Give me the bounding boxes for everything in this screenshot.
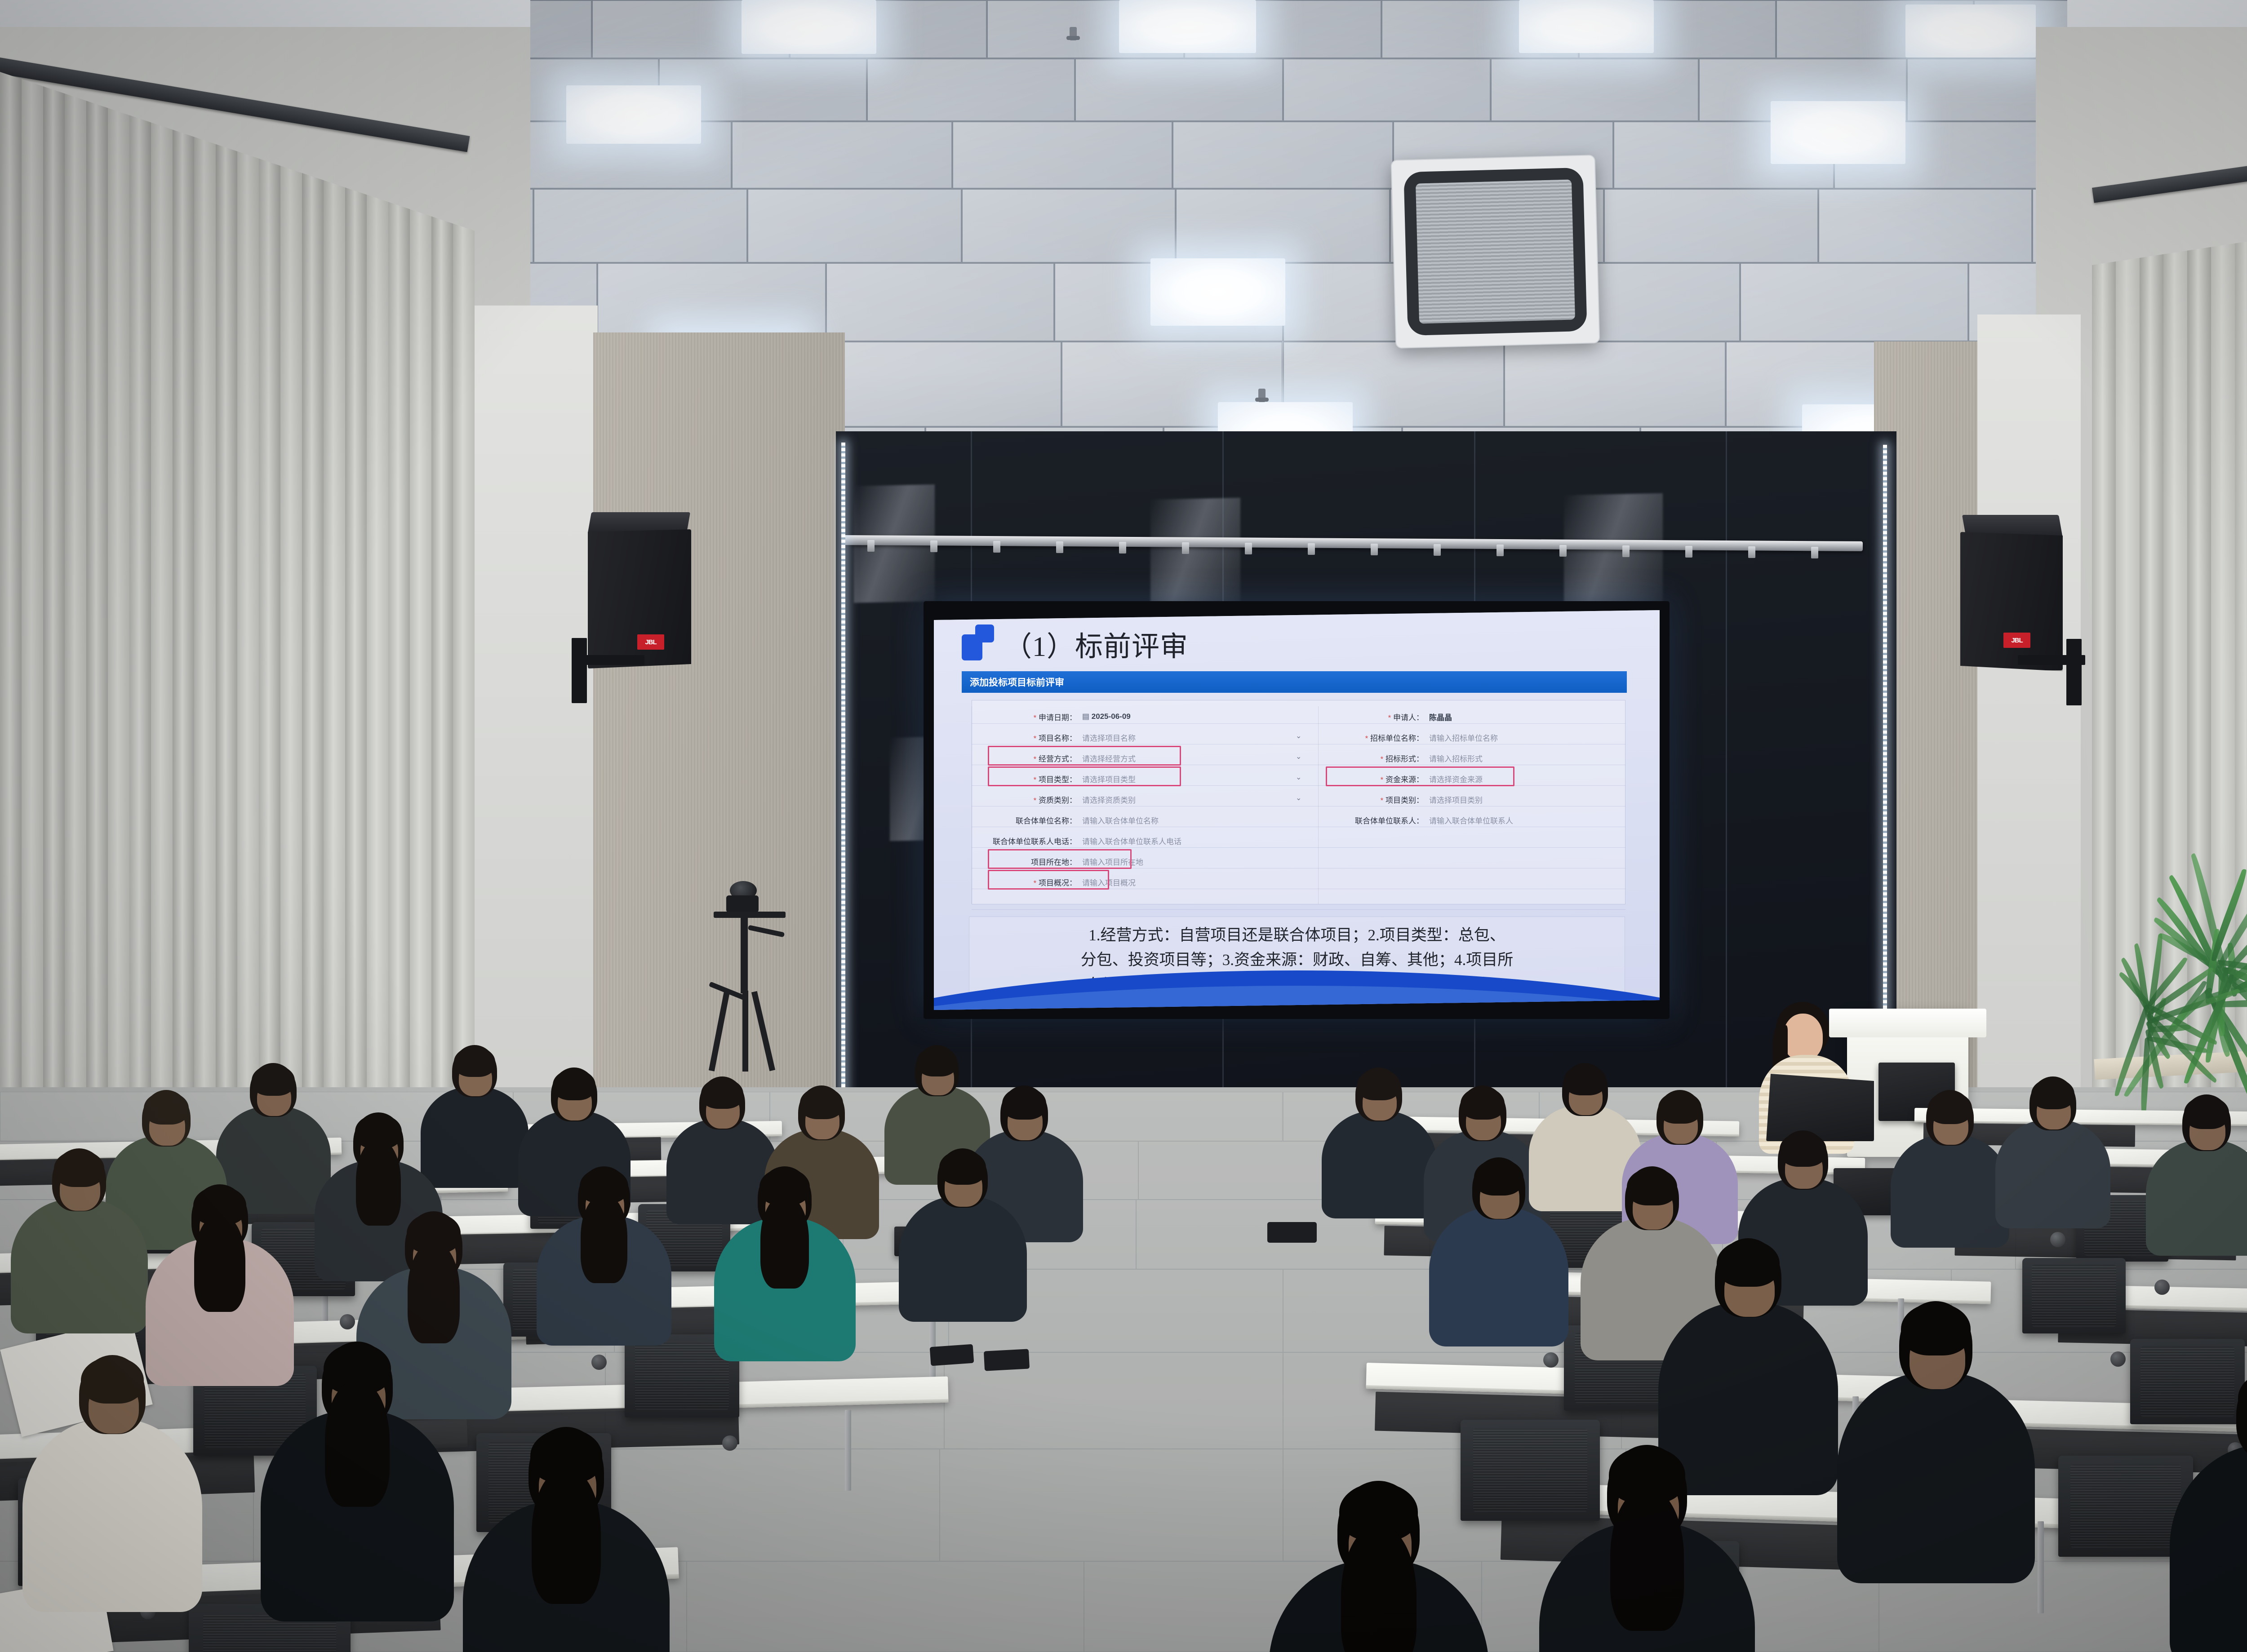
attendee-torso: [1995, 1120, 2110, 1228]
wall-speaker-right: JBL: [1950, 512, 2085, 705]
curtain-fold: [129, 67, 151, 1177]
curtain-fold: [259, 67, 280, 1177]
attendee-torso: [22, 1419, 202, 1612]
ceiling-tile: [747, 189, 961, 263]
track-clip: [1308, 543, 1315, 555]
attendee: [1339, 1483, 1559, 1652]
form-field-label: * 招标单位名称：: [934, 732, 1424, 743]
attendee-hair-top: [701, 1078, 743, 1109]
ceiling-tile: [1491, 58, 1699, 121]
curtain-fold: [216, 67, 237, 1177]
form-field-label-text: 招标形式：: [1386, 755, 1424, 763]
curtain-fold: [22, 67, 43, 1177]
form-row: * 项目类别：请选择项目类别: [934, 789, 1626, 810]
form-grid-line: [972, 909, 1625, 910]
curtain-fold: [151, 67, 173, 1177]
floor-tile: [940, 1449, 1283, 1561]
attendee-hair-top: [454, 1047, 495, 1077]
highlight-box: [988, 746, 1181, 766]
jbl-logo-badge: JBL: [2003, 633, 2030, 648]
attendee-long-hair: [1341, 1525, 1417, 1652]
ceiling-tile: [597, 263, 826, 341]
curtain-fold: [453, 67, 475, 1177]
ceiling-tile: [962, 189, 1176, 263]
ceiling-ac-cassette: [1391, 155, 1600, 349]
ceiling-tile: [840, 341, 1061, 427]
form-header-bar: 添加投标项目标前评审: [962, 671, 1627, 693]
attendee-hair-top: [144, 1092, 189, 1125]
ceiling-light-panel: [1905, 4, 2036, 58]
ceiling-light-panel: [1150, 258, 1285, 326]
attendee-long-hair: [581, 1194, 627, 1283]
attendee-long-hair: [532, 1468, 601, 1604]
smartphone: [1267, 1222, 1317, 1243]
curtain-fold: [43, 67, 65, 1177]
ceiling-tile: [867, 58, 1075, 121]
projection-screen: （1）标前评审 添加投标项目标前评审 * 申请日期：▤ 2025-06-09* …: [934, 610, 1660, 1010]
attendee-long-hair: [325, 1380, 390, 1507]
ceiling-light-panel: [1519, 0, 1654, 53]
form-row: 联合体单位联系人：请输入联合体单位联系人: [934, 810, 1626, 830]
highlight-box: [988, 766, 1181, 786]
attendee-long-hair: [760, 1195, 809, 1289]
smartphone: [984, 1349, 1030, 1371]
curtain-fold: [86, 67, 108, 1177]
track-clip: [930, 540, 937, 552]
track-clip: [993, 541, 1000, 553]
jbl-logo-badge: JBL: [637, 634, 664, 650]
attendee: [2031, 1078, 2146, 1237]
attendee: [759, 1168, 901, 1372]
ceiling-tile: [1176, 189, 1390, 263]
led-strip-right: [1883, 445, 1887, 1105]
slide-footer-wave: [934, 943, 1660, 1010]
attendee-hair-top: [1658, 1092, 1701, 1124]
led-strip-left: [841, 443, 845, 1107]
attendee-long-hair: [1610, 1488, 1683, 1631]
form-row: * 申请人：陈晶晶: [934, 706, 1626, 727]
ceiling-tile: [1172, 121, 1393, 189]
highlight-box: [988, 870, 1109, 890]
meeting-room-photo: JBL JBL （1）标前评审 添加投标项目标前评审 * 申请: [0, 0, 2247, 1652]
ceiling-tile: [732, 121, 952, 189]
attendee-hair-top: [1780, 1132, 1826, 1167]
attendee-long-hair: [356, 1139, 401, 1226]
smartphone: [930, 1344, 974, 1366]
chair-mesh-back: [2140, 1346, 2234, 1417]
required-asterisk: *: [1365, 734, 1370, 743]
ceiling-tile: [1283, 58, 1491, 121]
attendee: [530, 1429, 737, 1652]
curtain-fold: [65, 67, 86, 1177]
attendee-hair-top: [1357, 1069, 1400, 1100]
attendee-hair-top: [939, 1150, 986, 1185]
ceiling-tile: [1740, 263, 1969, 341]
form-field-label: * 项目类别：: [934, 794, 1424, 805]
attendee-torso: [1322, 1111, 1436, 1218]
form-field-value[interactable]: 陈晶晶: [1429, 711, 1452, 722]
form-field-label-text: 招标单位名称：: [1370, 734, 1424, 743]
attendee-hair-top: [1928, 1092, 1972, 1124]
attendee-hair-top: [1564, 1065, 1606, 1095]
camera-body: [726, 895, 759, 912]
form-field-value[interactable]: 请选择项目类别: [1429, 794, 1483, 805]
sprinkler-head: [1070, 27, 1077, 40]
chair-caster: [2154, 1280, 2170, 1295]
chair-caster: [340, 1314, 355, 1329]
desk-leg: [845, 1410, 851, 1491]
sprinkler-head: [1258, 389, 1266, 402]
curtain-fold: [0, 67, 22, 1177]
curtain-fold: [280, 67, 302, 1177]
curtain-fold: [173, 67, 194, 1177]
track-clip: [1685, 546, 1692, 558]
form-field-label-text: 联合体单位联系人电话：: [993, 837, 1077, 846]
curtain-fold: [302, 67, 324, 1177]
presenter-laptop: [1766, 1074, 1874, 1141]
form-field-label-text: 申请人：: [1393, 713, 1424, 722]
curtain-fold: [410, 67, 431, 1177]
attendee-hair-top: [1717, 1240, 1780, 1287]
track-clip: [1245, 543, 1252, 554]
form-field-value[interactable]: 请输入联合体单位联系人电话: [1082, 835, 1181, 846]
attendee-torso: [1429, 1207, 1568, 1346]
attendee-torso: [1891, 1134, 2009, 1248]
track-clip: [1559, 545, 1567, 557]
presentation-slide: （1）标前评审 添加投标项目标前评审 * 申请日期：▤ 2025-06-09* …: [934, 610, 1660, 1010]
form-header-label: 添加投标项目标前评审: [970, 675, 1064, 689]
curtain-fold: [388, 67, 410, 1177]
attendee-hair-top: [2184, 1096, 2229, 1129]
attendee-torso: [1837, 1372, 2035, 1583]
attendee: [81, 1357, 261, 1625]
curtain-fold: [431, 67, 453, 1177]
back-wall-left-pier: [467, 306, 598, 1114]
attendee: [1609, 1447, 1825, 1652]
track-clip: [1811, 547, 1818, 558]
curtain-fold: [108, 67, 129, 1177]
ceiling-tile: [952, 121, 1173, 189]
slide-title: （1）标前评审: [1004, 624, 1188, 664]
required-asterisk: *: [1388, 713, 1393, 722]
attendee-hair-top: [2031, 1078, 2074, 1109]
attendee-hair-top: [917, 1047, 957, 1076]
curtain-fold: [324, 67, 345, 1177]
attendee-hair-top: [1901, 1303, 1971, 1355]
attendee-hair-top: [800, 1087, 843, 1119]
attendee: [2238, 1370, 2247, 1652]
curtain-fold: [367, 67, 388, 1177]
curtain-fold: [237, 67, 259, 1177]
attendee-hair-top: [1002, 1087, 1046, 1120]
potted-palm-plant: [2094, 867, 2247, 1101]
attendee-hair-top: [1474, 1159, 1523, 1196]
chair-caster: [591, 1355, 607, 1370]
form-row: 联合体单位联系人电话：请输入联合体单位联系人电话: [934, 830, 1626, 851]
curtain-fold: [345, 67, 367, 1177]
track-clip: [1119, 542, 1126, 554]
required-asterisk: *: [1381, 796, 1386, 805]
attendee: [2184, 1096, 2247, 1265]
form-field-label-text: 项目类别：: [1386, 796, 1424, 805]
chair-caster: [2110, 1351, 2126, 1367]
track-clip: [867, 540, 875, 552]
highlight-box: [1326, 766, 1514, 786]
ceiling-tile: [1504, 341, 1726, 427]
form-field-label-text: 联合体单位联系人：: [1355, 817, 1424, 825]
track-clip: [1497, 545, 1504, 556]
attendee-hair-top: [81, 1357, 144, 1404]
track-clip: [1622, 545, 1630, 557]
form-field-label: 联合体单位联系人电话：: [934, 835, 1077, 846]
attendee-long-hair: [408, 1242, 459, 1343]
attendee-torso: [11, 1199, 148, 1333]
ceiling-tile: [1818, 189, 2032, 263]
attendee-hair-top: [553, 1069, 595, 1100]
track-clip: [1371, 544, 1378, 555]
highlight-box: [988, 849, 1132, 869]
ceiling-light-panel: [742, 0, 876, 54]
form-field-label: * 申请人：: [934, 711, 1424, 722]
track-clip: [1182, 542, 1189, 554]
curtain-left: [0, 67, 476, 1177]
track-clip: [1434, 544, 1441, 556]
curtain-fold: [194, 67, 216, 1177]
track-clip: [1748, 546, 1755, 558]
ceiling-tile: [1604, 189, 1818, 263]
slide-logo-icon: [962, 624, 994, 660]
chair: [2130, 1339, 2245, 1424]
required-asterisk: *: [1381, 755, 1386, 763]
ceiling-tile: [1075, 58, 1283, 121]
attendee-hair-top: [1627, 1168, 1677, 1205]
form-field-label: 联合体单位联系人：: [934, 815, 1424, 826]
ceiling-tile: [826, 263, 1055, 341]
form-field-value[interactable]: 请输入联合体单位联系人: [1429, 815, 1513, 826]
attendee: [939, 1150, 1067, 1332]
presenter-head: [1783, 1014, 1823, 1060]
form-field-value[interactable]: 请输入招标形式: [1429, 753, 1483, 764]
ceiling-light-panel: [1119, 0, 1256, 53]
ceiling-light-panel: [566, 85, 701, 144]
track-clip: [1056, 541, 1063, 553]
attendee-long-hair: [194, 1214, 245, 1312]
attendee-torso: [2146, 1140, 2247, 1256]
camera-tripod: [692, 878, 809, 1072]
attendee: [1901, 1303, 2099, 1599]
attendee-hair-top: [54, 1150, 104, 1187]
floor-tile: [687, 1561, 1084, 1652]
form-row: * 招标单位名称：请输入招标单位名称: [934, 727, 1626, 748]
back-wall-right-pier: [1977, 314, 2081, 1119]
form-field-value[interactable]: 请输入招标单位名称: [1429, 732, 1498, 743]
wall-speaker-left: JBL: [580, 512, 710, 705]
ceiling-light-panel: [1771, 101, 1905, 164]
attendee-hair-top: [1461, 1087, 1505, 1120]
attendee-torso: [899, 1196, 1027, 1322]
ceiling-tile: [533, 189, 747, 263]
